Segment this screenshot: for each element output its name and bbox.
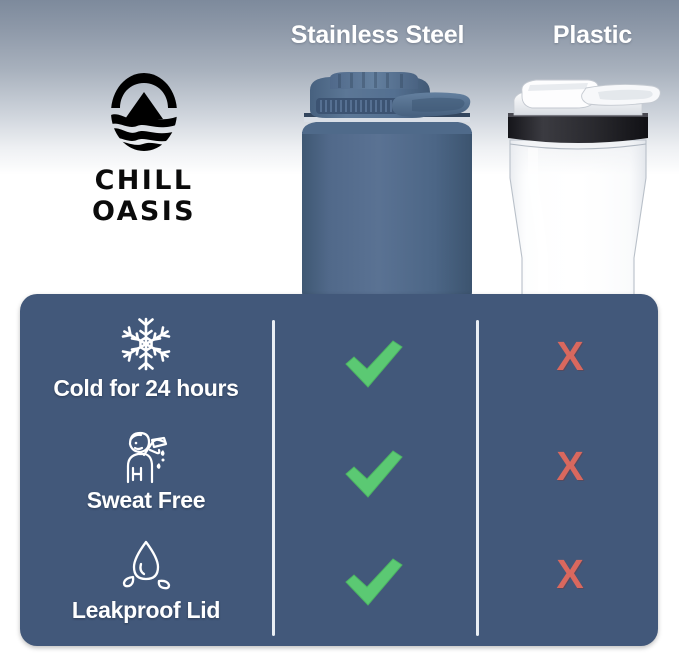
person-wiping-sweat-icon: [119, 428, 173, 484]
column-header-stainless-steel: Stainless Steel: [255, 21, 500, 50]
steel-check-sweat-free: [272, 448, 476, 505]
clear-plastic-bottle-image: [492, 78, 664, 300]
snowflake-icon: [119, 316, 173, 372]
x-icon: X: [479, 336, 661, 377]
plastic-x-cold-for-24-hours: X: [479, 336, 661, 377]
check-icon: [343, 338, 405, 390]
column-header-plastic: Plastic: [470, 21, 679, 50]
infographic-canvas: Stainless Steel Plastic CHILL OASIS: [0, 0, 679, 662]
feature-row-leakproof-lid: Leakproof Lid: [20, 538, 272, 624]
brand-logo: CHILL OASIS: [38, 72, 250, 227]
mountain-wave-oval-logo-icon: [107, 72, 181, 152]
x-icon: X: [479, 446, 661, 487]
stainless-steel-bottle-image: [292, 72, 482, 300]
steel-check-leakproof-lid: [272, 556, 476, 613]
plastic-x-leakproof-lid: X: [479, 554, 661, 595]
x-icon: X: [479, 554, 661, 595]
comparison-panel: Cold for 24 hours: [20, 294, 658, 646]
brand-wordmark: CHILL OASIS: [38, 165, 250, 227]
feature-row-sweat-free: Sweat Free: [20, 428, 272, 514]
feature-row-cold-for-24-hours: Cold for 24 hours: [20, 316, 272, 402]
check-icon: [343, 448, 405, 500]
steel-check-cold-for-24-hours: [272, 338, 476, 395]
plastic-x-sweat-free: X: [479, 446, 661, 487]
check-icon: [343, 556, 405, 608]
feature-label: Cold for 24 hours: [20, 375, 272, 402]
feature-label: Leakproof Lid: [20, 597, 272, 624]
water-droplet-icon: [119, 538, 173, 594]
feature-label: Sweat Free: [20, 487, 272, 514]
